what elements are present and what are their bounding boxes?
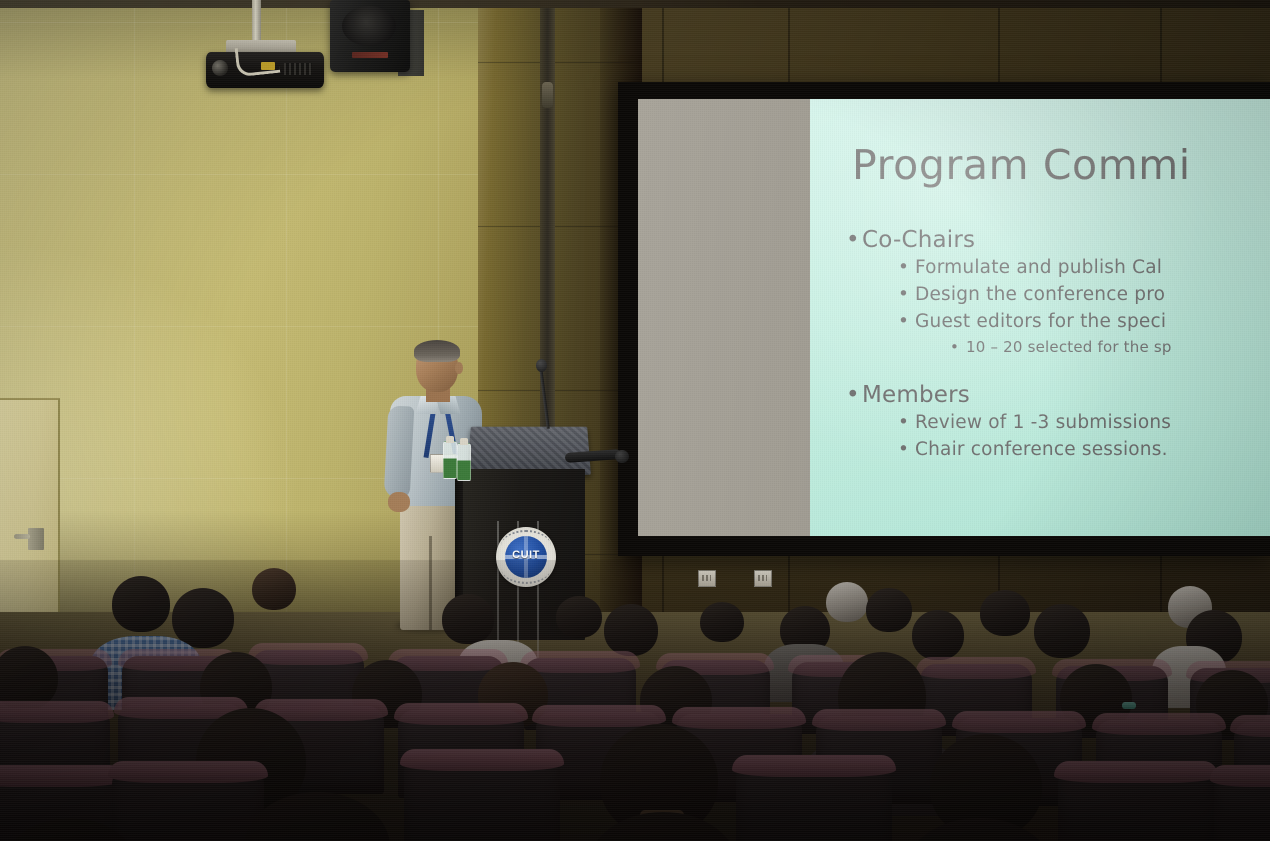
slide-bullet-l2: •Review of 1 -3 submissions — [846, 412, 1270, 433]
wall-pa-speaker — [330, 0, 410, 72]
slide-bullet-l2: •Formulate and publish Cal — [846, 257, 1270, 278]
slide-bullet-l2: •Design the conference pro — [846, 284, 1270, 305]
slide-bullet-l2: •Chair conference sessions. — [846, 439, 1270, 460]
bullet-dot-icon: • — [898, 257, 915, 278]
audience-head — [604, 604, 658, 656]
slide-bullet-text: 10 – 20 selected for the sp — [966, 338, 1172, 356]
auditorium-seat[interactable] — [1214, 772, 1270, 841]
slide-bullet-list: •Co-Chairs •Formulate and publish Cal •D… — [846, 227, 1270, 466]
slide-bullet-l1: •Co-Chairs — [846, 227, 1270, 253]
speaker-cone-icon — [342, 6, 396, 46]
lectern-desktop — [467, 427, 591, 475]
audience-head — [980, 590, 1030, 636]
bullet-dot-icon: • — [846, 382, 862, 408]
auditorium-seat[interactable] — [404, 756, 560, 841]
audience-area — [0, 560, 1270, 841]
slide-bullet-text: Co-Chairs — [862, 227, 975, 253]
projector-lens-icon — [212, 60, 228, 76]
bullet-dot-icon: • — [898, 311, 915, 332]
auditorium-seat[interactable] — [1058, 768, 1214, 841]
speaker-brand-badge — [352, 52, 388, 58]
water-bottle — [457, 443, 471, 481]
microphone-icon — [536, 359, 547, 372]
projector-cable — [235, 44, 281, 77]
slide-bullet-l2: •Guest editors for the speci — [846, 311, 1270, 332]
column-strip-knob — [542, 82, 553, 108]
door-handle-icon[interactable] — [28, 528, 44, 550]
bullet-dot-icon: • — [898, 439, 915, 460]
slide-spacer — [846, 362, 1270, 382]
bullet-dot-icon: • — [898, 412, 915, 433]
audience-head — [112, 576, 170, 632]
presenter-hand — [388, 492, 410, 512]
projected-slide-area: Program Commi •Co-Chairs •Formulate and … — [810, 99, 1270, 536]
slide-title: Program Commi — [852, 141, 1191, 189]
projector-vents — [284, 63, 312, 75]
slide-bullet-l1: •Members — [846, 382, 1270, 408]
presentation-slide: Program Commi •Co-Chairs •Formulate and … — [810, 99, 1270, 536]
audience-head — [556, 596, 602, 638]
audience-head — [866, 588, 912, 632]
slide-bullet-text: Chair conference sessions. — [915, 439, 1168, 460]
audience-head — [904, 818, 1054, 841]
slide-bullet-text: Formulate and publish Cal — [915, 257, 1162, 278]
bullet-dot-icon: • — [950, 338, 966, 356]
slide-bullet-text: Guest editors for the speci — [915, 311, 1166, 332]
slide-bullet-l3: •10 – 20 selected for the sp — [846, 338, 1270, 356]
auditorium-seat[interactable] — [112, 768, 264, 841]
audience-head — [700, 602, 744, 642]
lecture-hall-photo: Program Commi •Co-Chairs •Formulate and … — [0, 0, 1270, 841]
bullet-dot-icon: • — [898, 284, 915, 305]
water-bottle — [443, 441, 457, 479]
projection-screen-surface: Program Commi •Co-Chairs •Formulate and … — [638, 99, 1270, 536]
audience-head — [1034, 604, 1090, 658]
microphone-joint-knob — [615, 450, 629, 463]
slide-bullet-text: Members — [862, 382, 970, 408]
slide-bullet-text: Review of 1 -3 submissions — [915, 412, 1171, 433]
hair-clip-icon — [1122, 702, 1136, 709]
auditorium-seat[interactable] — [736, 762, 892, 841]
projection-screen-frame: Program Commi •Co-Chairs •Formulate and … — [618, 82, 1270, 556]
slide-bullet-text: Design the conference pro — [915, 284, 1165, 305]
audience-head — [588, 812, 738, 841]
audience-head — [252, 568, 296, 610]
projector-connector — [261, 62, 275, 70]
ceiling-projector — [206, 52, 324, 88]
bullet-dot-icon: • — [846, 227, 862, 253]
ceiling-edge — [0, 0, 1270, 8]
presenter-ear — [455, 362, 463, 374]
presenter-arm — [384, 405, 415, 498]
audience-head — [442, 594, 494, 644]
audience-head — [172, 588, 234, 648]
audience-head — [912, 610, 964, 660]
audience-head — [826, 582, 868, 622]
presenter-hair — [414, 340, 460, 362]
